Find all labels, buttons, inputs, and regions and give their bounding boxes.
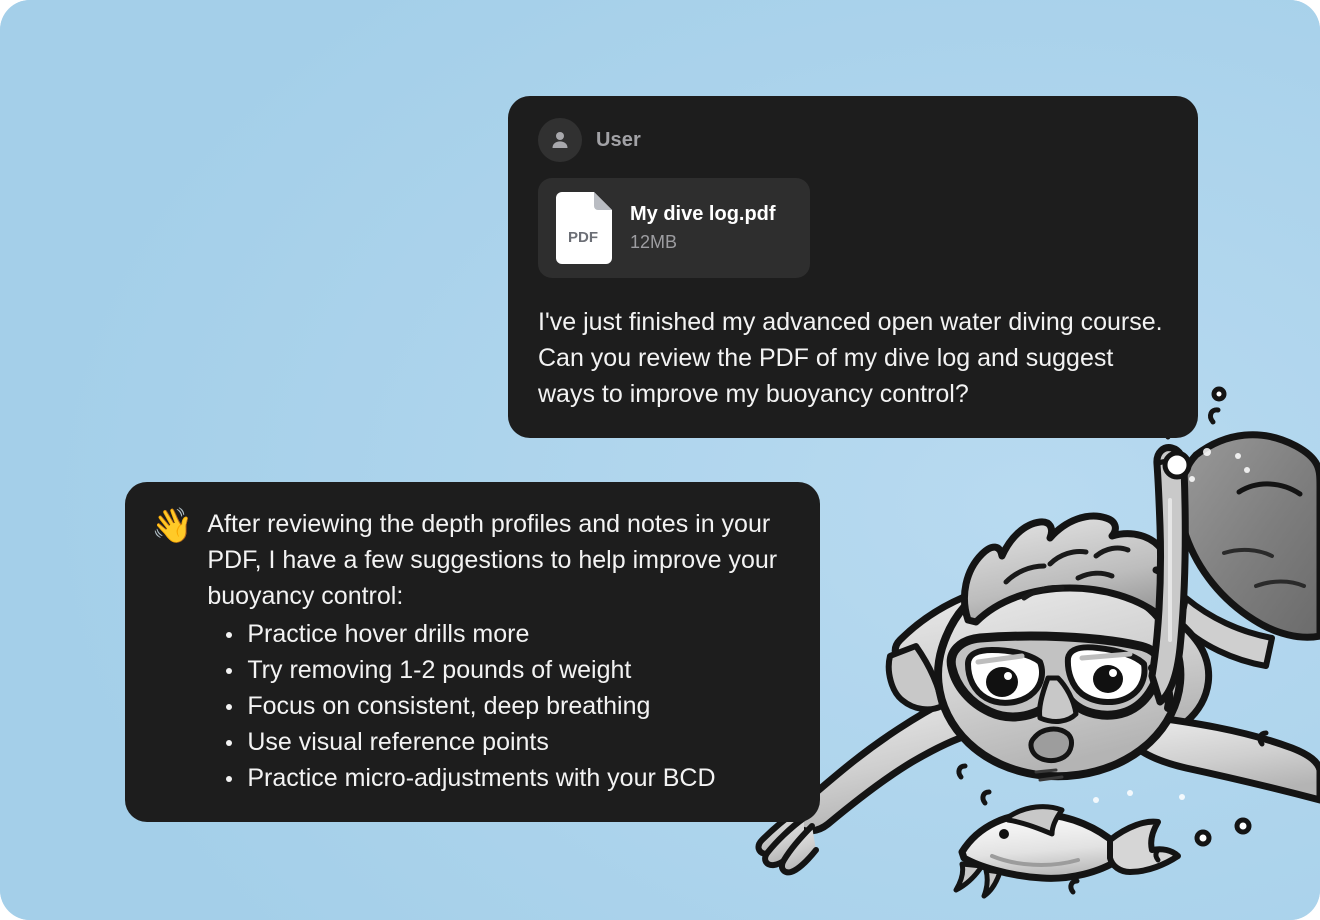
assistant-message-body: 👋 After reviewing the depth profiles and… [151,506,792,796]
list-item: Practice hover drills more [207,616,792,652]
attachment-file-size: 12MB [630,232,776,253]
snorkeler-figure [759,435,1320,873]
assistant-text-column: After reviewing the depth profiles and n… [207,506,792,796]
chat-scene: User PDF My dive log.pdf 12MB I've just … [0,0,1320,920]
pdf-file-icon: PDF [556,192,612,264]
list-item: Practice micro-adjustments with your BCD [207,760,792,796]
assistant-message-bubble: 👋 After reviewing the depth profiles and… [125,482,820,822]
assistant-intro-text: After reviewing the depth profiles and n… [207,506,792,614]
attachment-file-name: My dive log.pdf [630,203,776,226]
user-message-header: User [538,118,1172,162]
list-item: Try removing 1-2 pounds of weight [207,652,792,688]
list-item: Focus on consistent, deep breathing [207,688,792,724]
message-author-name: User [596,129,641,152]
bubble-highlights [1093,448,1250,803]
waving-hand-emoji: 👋 [151,508,193,544]
user-message-text: I've just finished my advanced open wate… [538,304,1172,412]
svg-text:PDF: PDF [568,229,598,246]
pdf-attachment-card[interactable]: PDF My dive log.pdf 12MB [538,178,810,278]
avatar [538,118,582,162]
air-bubbles [959,389,1266,892]
user-message-bubble: User PDF My dive log.pdf 12MB I've just … [508,96,1198,438]
suggestion-list: Practice hover drills more Try removing … [207,616,792,796]
person-icon [548,128,572,152]
attachment-meta: My dive log.pdf 12MB [630,203,776,253]
list-item: Use visual reference points [207,724,792,760]
fish-illustration [956,807,1178,896]
